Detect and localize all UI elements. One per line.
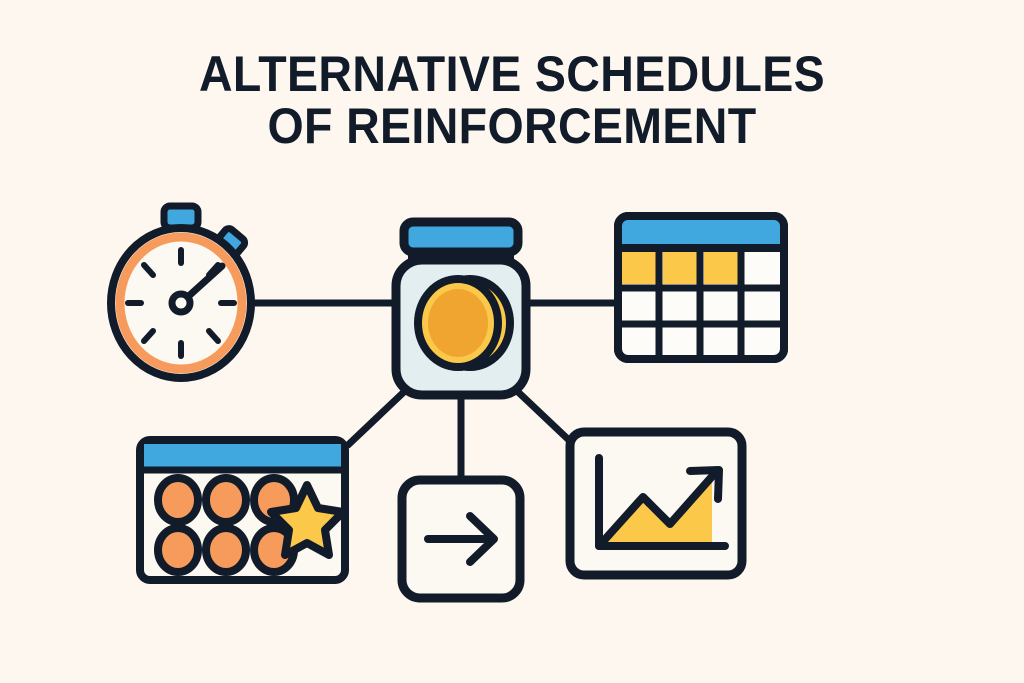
token <box>206 528 246 572</box>
token <box>206 478 246 522</box>
token-row-2 <box>158 528 294 572</box>
token <box>158 478 198 522</box>
token-board-icon <box>140 440 345 580</box>
jar-lid <box>404 222 518 252</box>
connector-jar-to-trend-chart <box>516 390 572 443</box>
token <box>158 528 198 572</box>
title-line-2: OF REINFORCEMENT <box>36 100 988 152</box>
stopwatch-icon <box>111 206 251 378</box>
arrow-box-icon <box>402 480 520 598</box>
page-title: ALTERNATIVE SCHEDULES OF REINFORCEMENT <box>0 48 1024 152</box>
calendar-table-icon <box>618 216 784 359</box>
token-board-header-bar <box>144 444 341 468</box>
infographic-canvas: ALTERNATIVE SCHEDULES OF REINFORCEMENT <box>0 0 1024 683</box>
jar-coin-front-inner <box>428 289 488 357</box>
trend-chart-icon <box>570 432 742 575</box>
calendar-filled-cells <box>622 252 741 284</box>
connector-jar-to-token-board <box>348 390 406 445</box>
stopwatch-hub <box>172 294 190 312</box>
token-jar-icon <box>396 222 526 395</box>
title-line-1: ALTERNATIVE SCHEDULES <box>36 48 988 100</box>
